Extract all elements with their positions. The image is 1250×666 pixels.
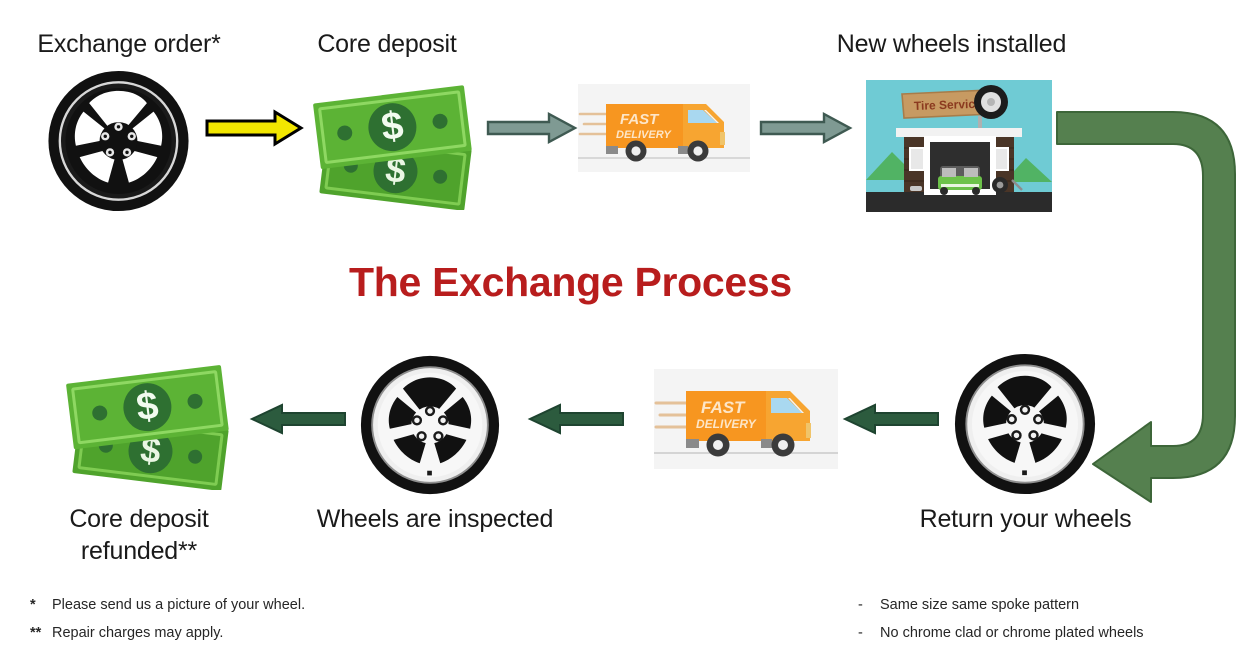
arrow-deposit-to-truck xyxy=(487,112,577,144)
svg-text:DELIVERY: DELIVERY xyxy=(616,129,672,141)
arrow-return-to-truck xyxy=(843,403,939,435)
note-left-1: * Please send us a picture of your wheel… xyxy=(30,592,450,620)
page-title: The Exchange Process xyxy=(349,259,792,306)
step-label-exchange-order: Exchange order* xyxy=(0,28,258,60)
note-left-1-text: Please send us a picture of your wheel. xyxy=(52,592,305,620)
note-left-2-text: Repair charges may apply. xyxy=(52,620,223,648)
note-left-2-mark: ** xyxy=(30,620,52,648)
arrow-truck-to-inspect xyxy=(528,403,624,435)
notes-right: - Same size same spoke pattern - No chro… xyxy=(858,592,1250,647)
wheel-silver-return-icon xyxy=(952,353,1098,495)
money-refund-icon: $ $ xyxy=(56,352,242,490)
step-label-return-your-wheels: Return your wheels xyxy=(898,503,1153,535)
notes-left: * Please send us a picture of your wheel… xyxy=(30,592,450,647)
delivery-truck-icon: FAST DELIVERY xyxy=(578,84,750,172)
arrow-truck-to-shop xyxy=(760,112,852,144)
note-left-1-mark: * xyxy=(30,592,52,620)
note-left-2: ** Repair charges may apply. xyxy=(30,620,450,648)
note-right-1-text: Same size same spoke pattern xyxy=(880,592,1079,620)
note-right-2-text: No chrome clad or chrome plated wheels xyxy=(880,620,1144,648)
arrow-inspect-to-refund xyxy=(250,403,346,435)
step-label-core-deposit-refunded: Core deposit refunded** xyxy=(30,503,248,567)
note-right-1-mark: - xyxy=(858,592,880,620)
arrow-order-to-deposit xyxy=(205,110,303,146)
money-icon: $ $ xyxy=(305,72,483,210)
step-label-core-deposit: Core deposit xyxy=(268,28,506,60)
exchange-process-infographic: Exchange order* Core deposit New wheels … xyxy=(0,0,1250,666)
delivery-truck-return-icon: FAST DELIVERY xyxy=(654,369,838,469)
wheel-silver-inspected-icon xyxy=(357,355,503,495)
note-right-2: - No chrome clad or chrome plated wheels xyxy=(858,620,1250,648)
wheel-dark-icon xyxy=(41,70,196,212)
tire-service-shop-icon: Tire Service xyxy=(866,80,1052,212)
note-right-2-mark: - xyxy=(858,620,880,648)
step-label-new-wheels-installed: New wheels installed xyxy=(800,28,1103,60)
svg-text:Tire Service: Tire Service xyxy=(914,97,983,113)
note-right-1: - Same size same spoke pattern xyxy=(858,592,1250,620)
svg-text:DELIVERY: DELIVERY xyxy=(696,417,757,431)
svg-text:FAST: FAST xyxy=(620,111,660,128)
svg-text:FAST: FAST xyxy=(701,398,746,417)
step-label-wheels-inspected: Wheels are inspected xyxy=(300,503,570,535)
